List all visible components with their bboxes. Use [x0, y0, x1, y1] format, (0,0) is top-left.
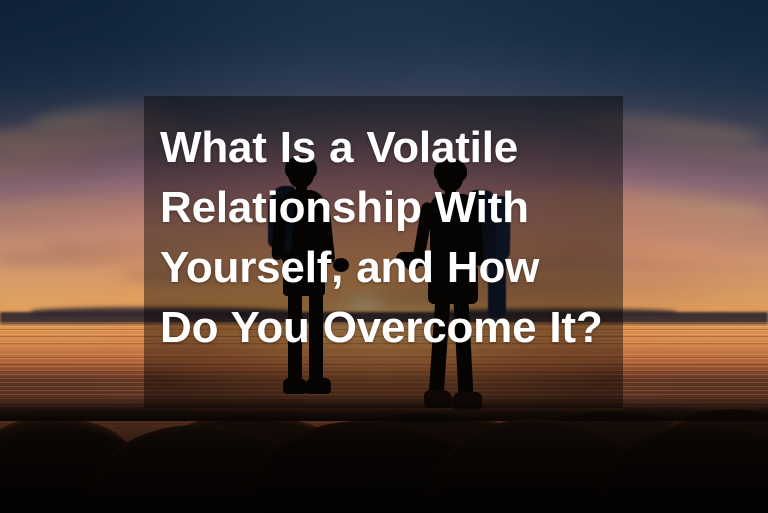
title-overlay-panel: What Is a Volatile Relationship With You… — [144, 96, 623, 408]
article-hero-image: What Is a Volatile Relationship With You… — [0, 0, 768, 513]
page-title: What Is a Volatile Relationship With You… — [160, 118, 605, 358]
foreground-darkening — [0, 403, 768, 513]
